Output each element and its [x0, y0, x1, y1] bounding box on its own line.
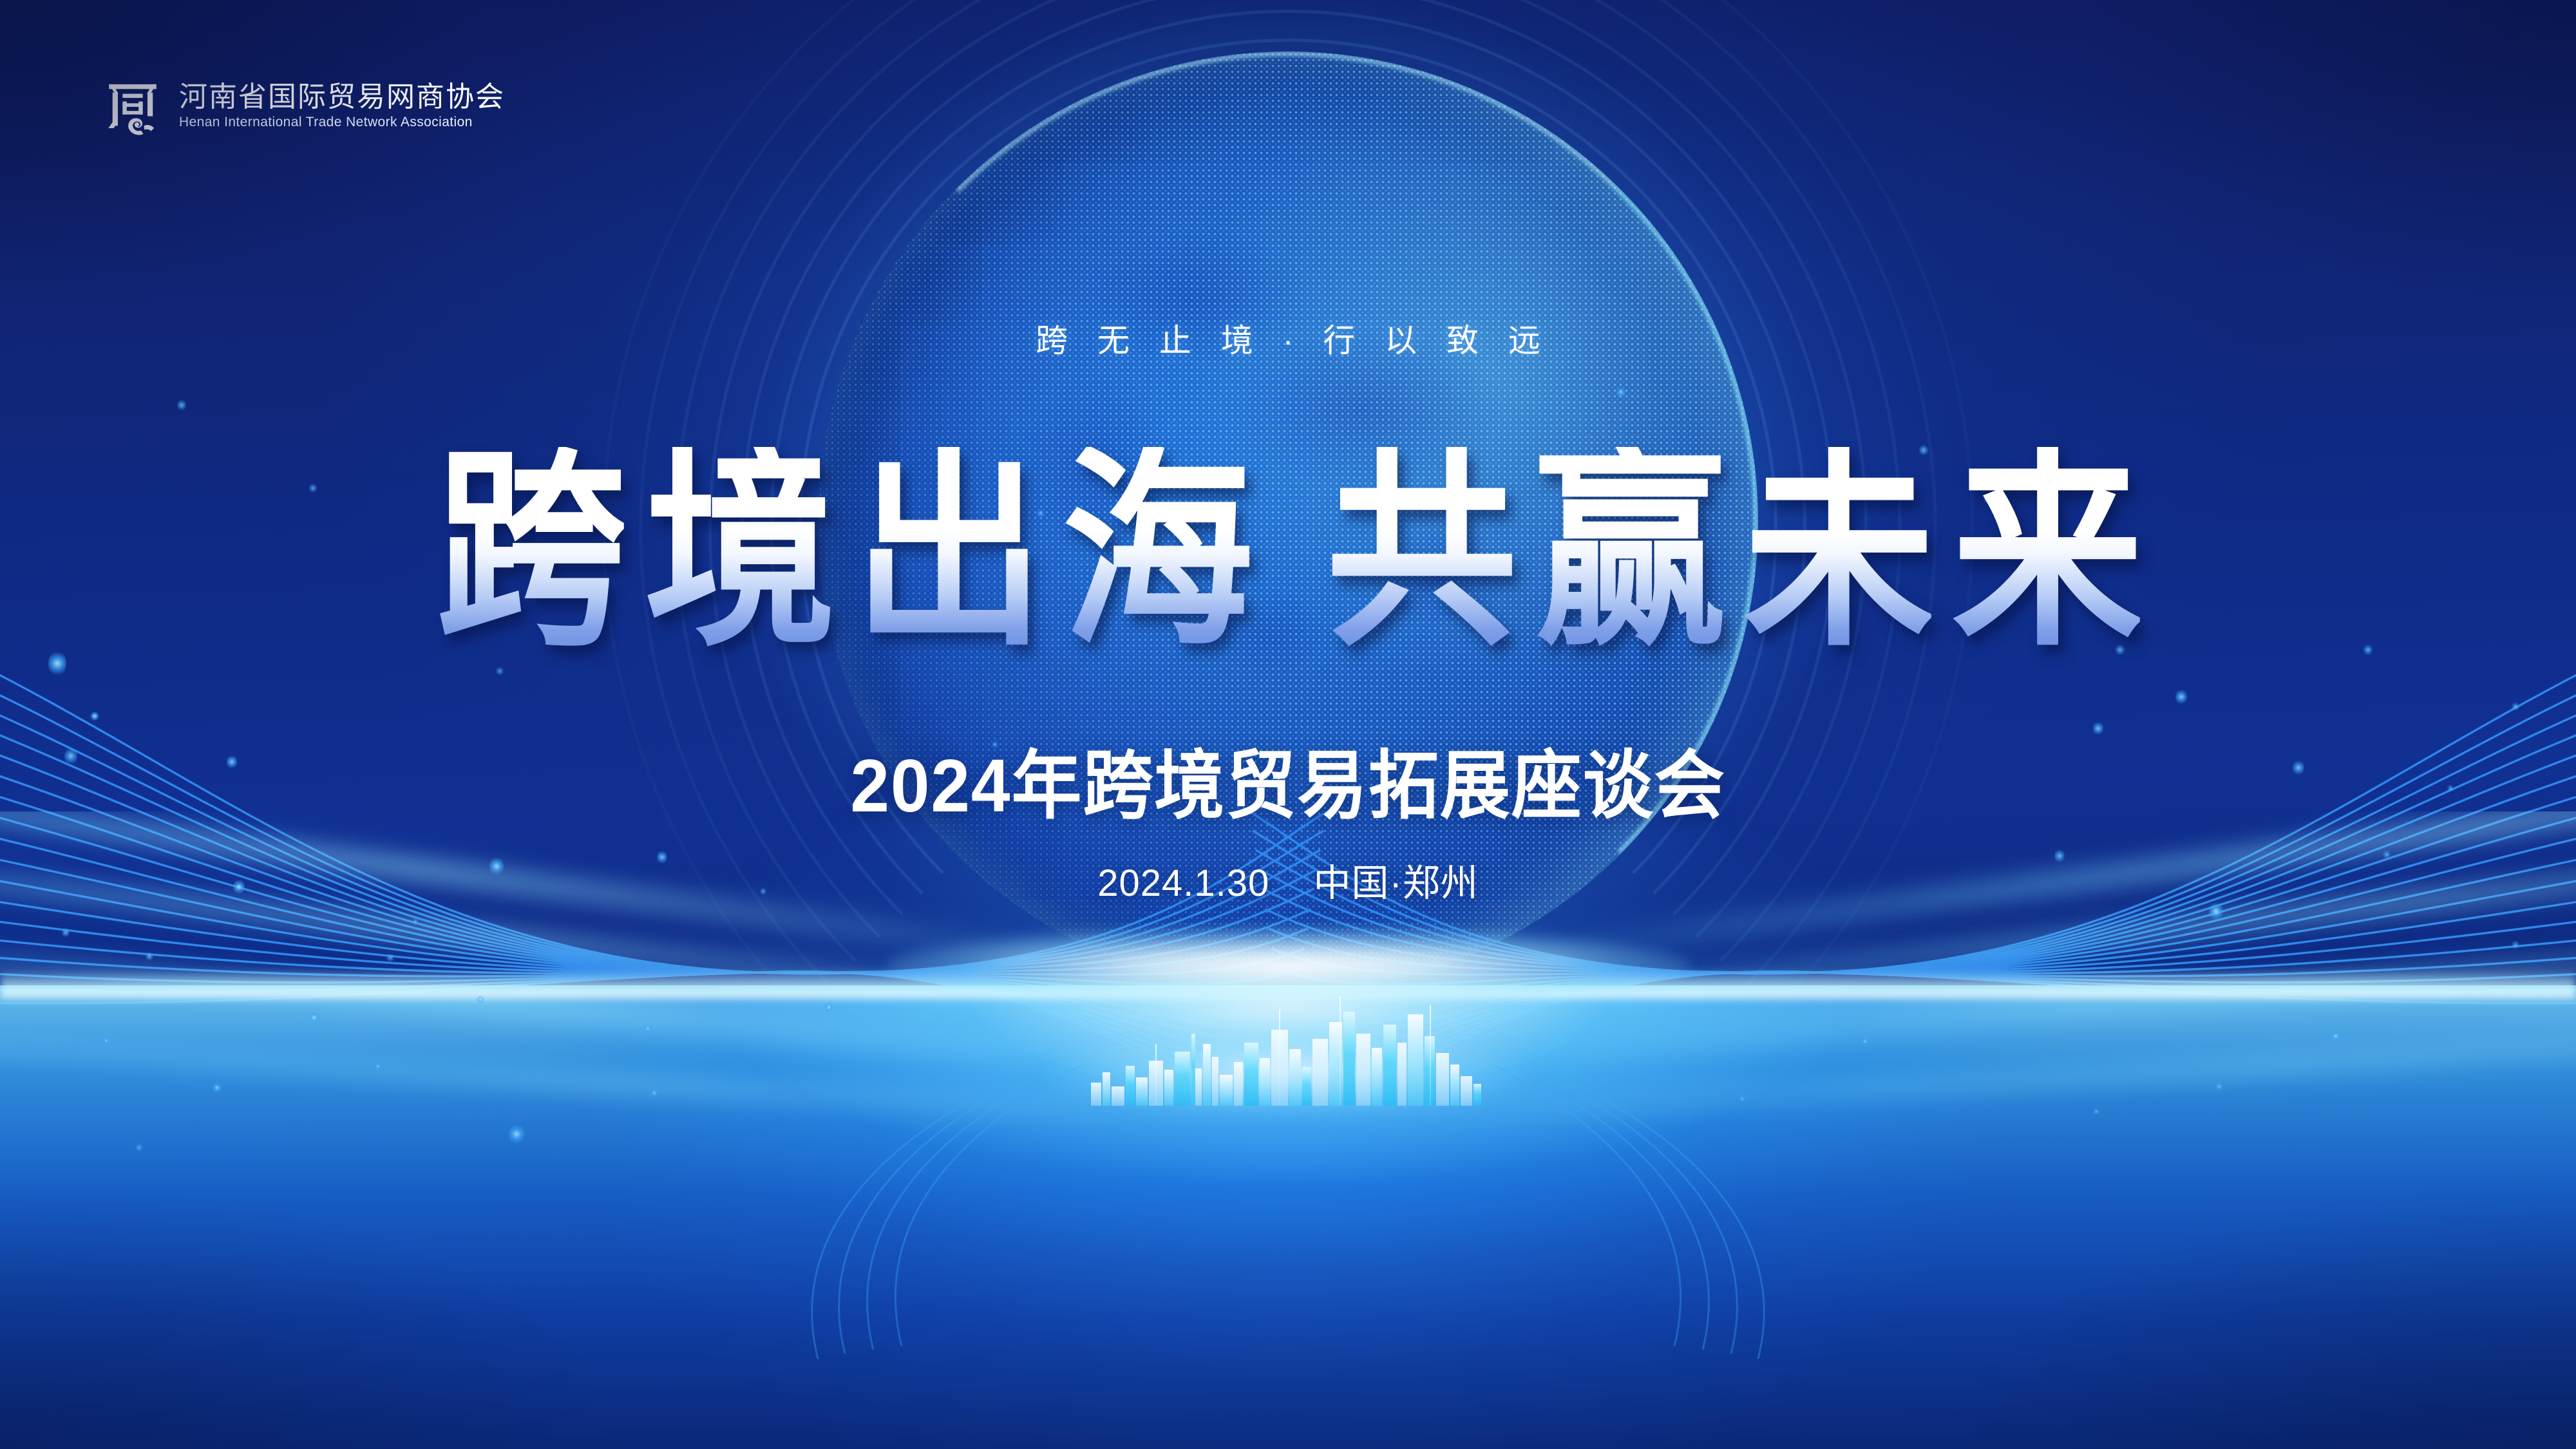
event-location: 中国·郑州 [1313, 862, 1478, 904]
event-headline: 跨 境 出 海 共 赢 未 来 [0, 447, 2576, 655]
logo-name-cn: 河南省国际贸易网商协会 [179, 83, 505, 111]
event-tagline: 跨 无 止 境 · 行 以 致 远 [0, 325, 2576, 357]
headline-char: 赢 [1535, 447, 1723, 655]
headline-group-1: 跨 境 出 海 [426, 447, 1260, 655]
headline-char: 境 [645, 447, 833, 655]
logo-name-en: Henan International Trade Network Associ… [179, 115, 505, 129]
event-date-location: 2024.1.30 中国·郑州 [0, 865, 2576, 902]
event-date: 2024.1.30 [1097, 862, 1269, 904]
headline-char: 未 [1743, 447, 1931, 655]
association-logo: 河南省国际贸易网商协会 Henan International Trade Ne… [103, 76, 505, 135]
event-subtitle: 2024年跨境贸易拓展座谈会 [77, 748, 2499, 823]
city-skyline-icon [1088, 993, 1488, 1106]
headline-char: 共 [1326, 447, 1514, 655]
headline-char: 出 [853, 447, 1041, 655]
headline-char: 跨 [436, 447, 624, 655]
headline-group-2: 共 赢 未 来 [1316, 447, 2150, 655]
headline-char: 海 [1062, 447, 1250, 655]
henan-trade-seal-logo-icon [103, 76, 162, 135]
headline-char: 来 [1952, 447, 2140, 655]
banner-canvas: 河南省国际贸易网商协会 Henan International Trade Ne… [0, 0, 2576, 1449]
